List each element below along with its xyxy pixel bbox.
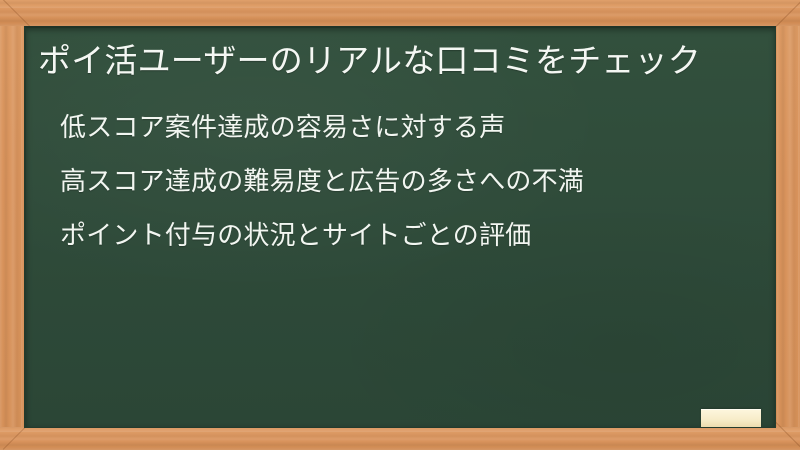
list-item: 高スコア達成の難易度と広告の多さへの不満 <box>60 154 757 208</box>
chalk-stick-icon <box>701 409 761 427</box>
page-title: ポイ活ユーザーのリアルな口コミをチェック <box>36 36 757 86</box>
chalkboard-surface: ポイ活ユーザーのリアルな口コミをチェック 低スコア案件達成の容易さに対する声 高… <box>24 26 776 428</box>
list-item: 低スコア案件達成の容易さに対する声 <box>60 100 757 154</box>
frame-top-rail <box>0 0 800 26</box>
frame-bottom-rail <box>0 427 800 450</box>
chalkboard-content: ポイ活ユーザーのリアルな口コミをチェック 低スコア案件達成の容易さに対する声 高… <box>26 28 775 427</box>
chalkboard-wooden-frame: ポイ活ユーザーのリアルな口コミをチェック 低スコア案件達成の容易さに対する声 高… <box>0 0 800 450</box>
list-item: ポイント付与の状況とサイトごとの評価 <box>60 208 757 262</box>
topic-list: 低スコア案件達成の容易さに対する声 高スコア達成の難易度と広告の多さへの不満 ポ… <box>36 100 757 262</box>
